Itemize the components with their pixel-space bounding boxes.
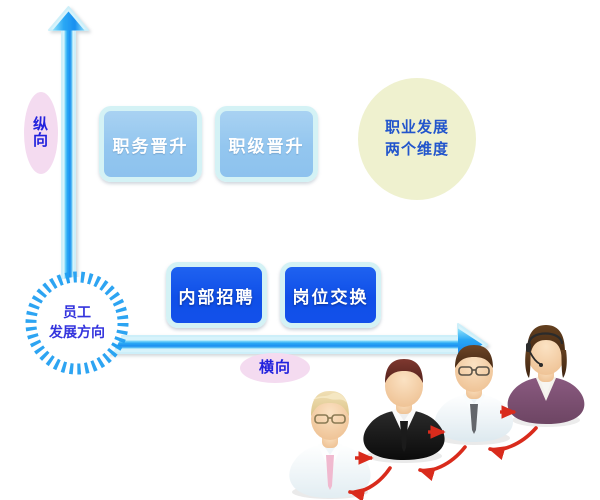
axis-arrows (0, 0, 600, 500)
box-job-promotion[interactable]: 职务晋升 (99, 106, 202, 182)
person-employee-woman-headset (508, 325, 585, 424)
axis-label-vertical-char-2: 向 (33, 133, 49, 149)
axis-label-horizontal: 横向 (240, 353, 310, 383)
legend-line-2: 两个维度 (385, 139, 449, 162)
legend-line-1: 职业发展 (385, 117, 449, 140)
person-employee-dark-suit (363, 359, 444, 460)
flow-arrows-return (350, 428, 536, 492)
people-group (0, 0, 600, 500)
box-rank-promotion[interactable]: 职级晋升 (215, 106, 318, 182)
person-employee-blond-glasses (289, 391, 370, 498)
origin-node-text: 员工 发展方向 (22, 268, 132, 378)
origin-line-1: 员工 (63, 303, 91, 323)
axis-label-vertical-char-1: 纵 (33, 117, 49, 133)
flow-arrows-forward (355, 412, 515, 458)
box-internal-recruitment[interactable]: 内部招聘 (166, 262, 267, 328)
legend-circle-career-dimensions: 职业发展 两个维度 (358, 78, 476, 200)
box-job-rotation[interactable]: 岗位交换 (280, 262, 381, 328)
origin-line-2: 发展方向 (49, 323, 105, 343)
person-employee-white-shirt-glasses (435, 345, 513, 442)
axis-label-vertical: 纵 向 (24, 92, 58, 174)
diagram-canvas: 员工 发展方向 纵 向 横向 职务晋升 职级晋升 内部招聘 岗位交换 职业发展 … (0, 0, 600, 500)
origin-node[interactable]: 员工 发展方向 (22, 268, 132, 378)
